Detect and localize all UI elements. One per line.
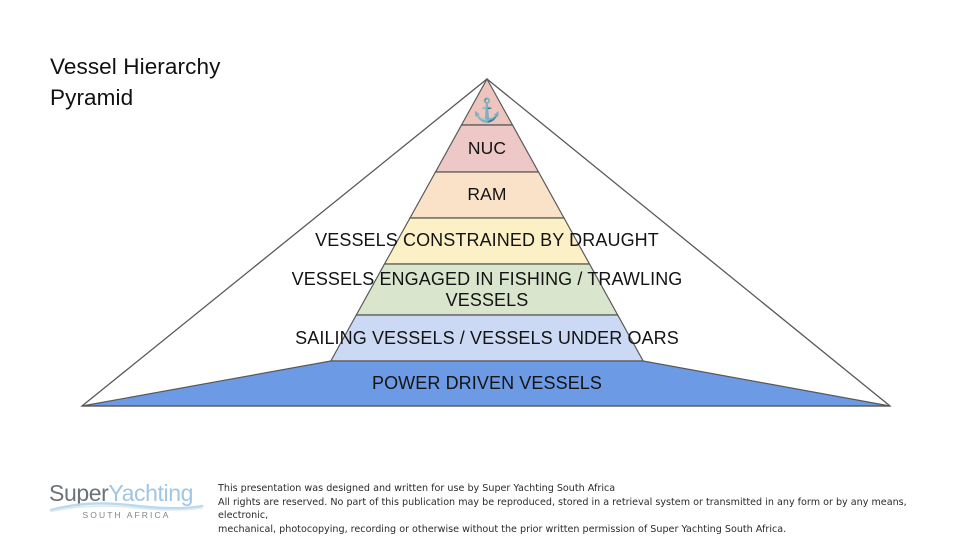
pyramid-label-nuc: NUC xyxy=(287,138,687,159)
copyright-notice: This presentation was designed and writt… xyxy=(218,482,918,536)
vessel-hierarchy-pyramid: ⚓ NUC RAM VESSELS CONSTRAINED BY DRAUGHT… xyxy=(0,0,960,440)
super-yachting-logo: SuperYachting SOUTH AFRICA xyxy=(49,474,204,526)
logo-subtitle: SOUTH AFRICA xyxy=(49,510,204,520)
anchor-icon: ⚓ xyxy=(470,96,504,124)
pyramid-label-power: POWER DRIVEN VESSELS xyxy=(137,373,837,394)
slide-footer: SuperYachting SOUTH AFRICA This presenta… xyxy=(0,462,960,540)
pyramid-label-draught: VESSELS CONSTRAINED BY DRAUGHT xyxy=(187,230,787,251)
pyramid-label-ram: RAM xyxy=(287,184,687,205)
pyramid-label-sailing: SAILING VESSELS / VESSELS UNDER OARS xyxy=(137,328,837,349)
pyramid-label-fishing: VESSELS ENGAGED IN FISHING / TRAWLING VE… xyxy=(187,269,787,311)
